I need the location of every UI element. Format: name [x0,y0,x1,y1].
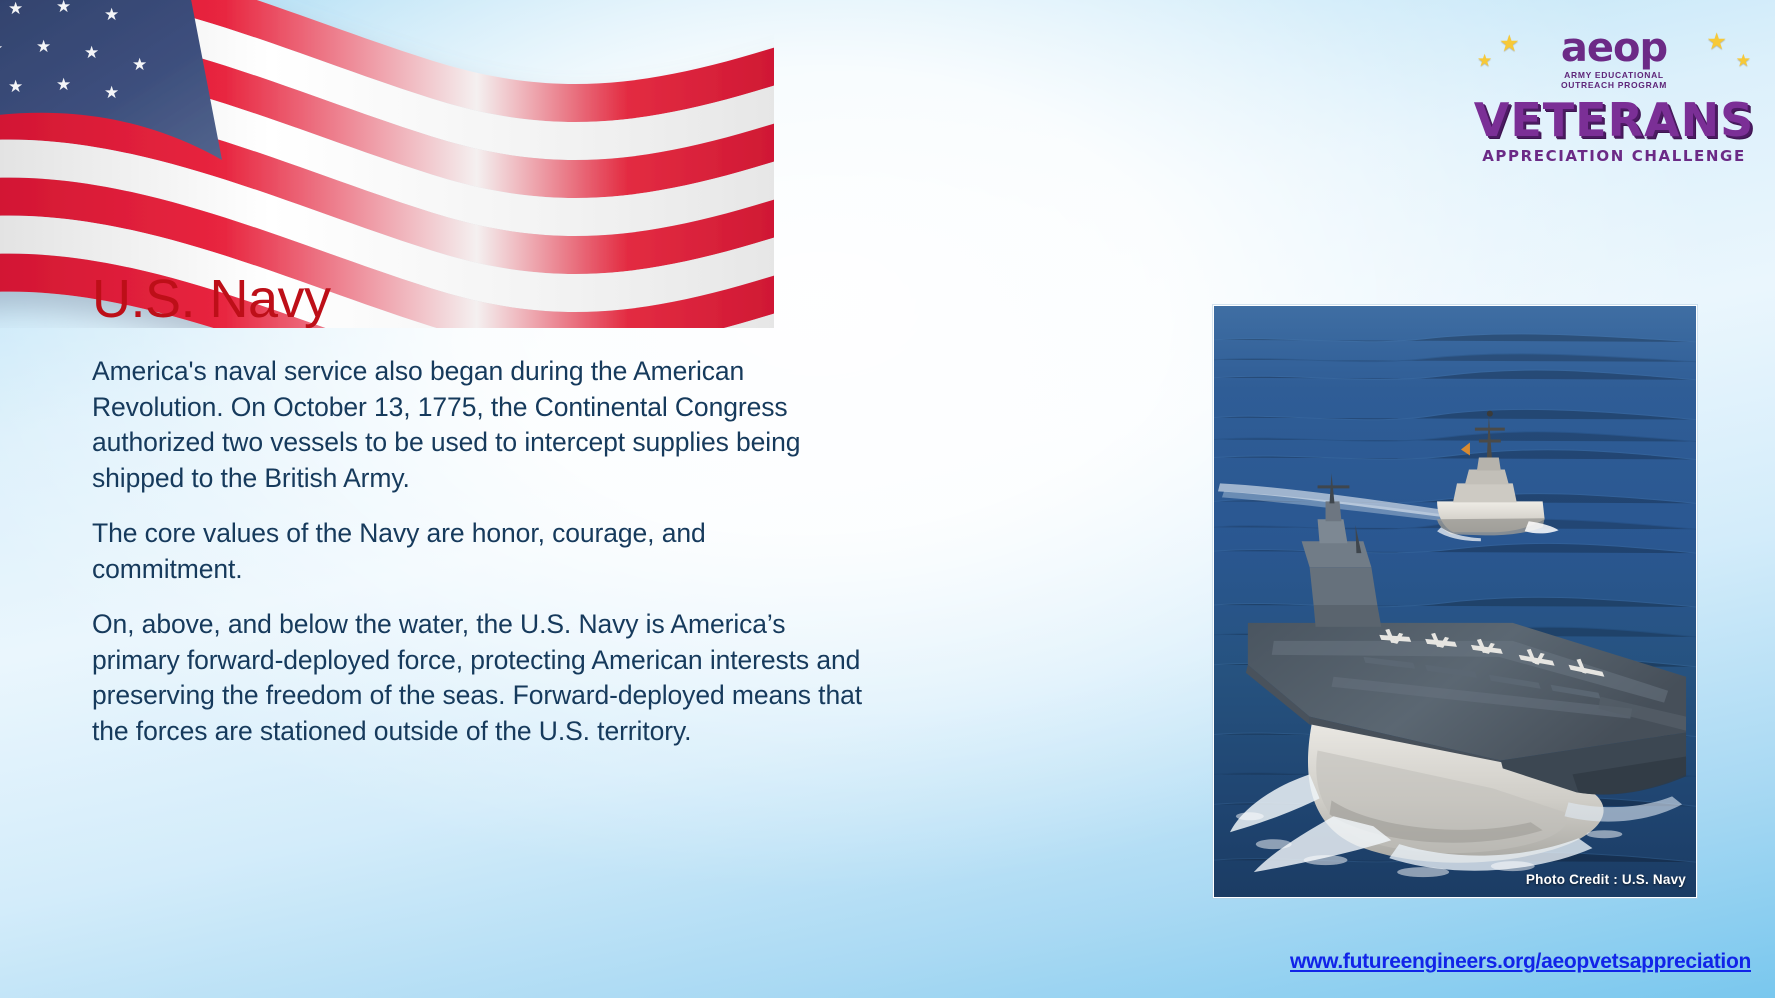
star-icon-left-outer: ★ [1477,52,1492,69]
svg-text:★: ★ [8,77,23,97]
svg-text:★: ★ [36,37,51,57]
svg-text:★: ★ [56,75,71,95]
svg-text:★: ★ [104,5,119,25]
svg-text:★: ★ [104,83,119,103]
body-paragraph-1: America's naval service also began durin… [92,354,862,496]
logo-subheadline-appreciation-challenge: APPRECIATION CHALLENGE [1471,147,1757,165]
content-column: U.S. Navy America's naval service also b… [92,268,872,749]
navy-photo: Photo Credit : U.S. Navy [1213,305,1697,898]
star-icon-right-inner: ★ [1706,30,1727,53]
logo-headline-veterans: VETERANS [1471,96,1757,144]
aeop-veterans-challenge-logo: ★ ★ ★ ★ aeop ARMY EDUCATIONAL OUTREACH P… [1471,24,1757,172]
star-icon-left-inner: ★ [1499,32,1520,55]
photo-credit-label: Photo Credit : U.S. Navy [1526,872,1686,887]
page-title: U.S. Navy [92,268,872,330]
aeop-subtitle-line1: ARMY EDUCATIONAL [1564,70,1664,80]
logo-brand-row: ★ ★ ★ ★ aeop ARMY EDUCATIONAL OUTREACH P… [1471,24,1757,94]
star-icon-right-outer: ★ [1736,52,1751,69]
svg-text:★: ★ [0,39,3,59]
slide-canvas: ★ ★ ★ ★ ★ ★ ★ ★ ★ ★ ★ ★ ★ ★ ★ ★ ★ [0,0,1775,998]
body-paragraph-2: The core values of the Navy are honor, c… [92,516,862,587]
svg-text:★: ★ [132,55,147,75]
svg-text:★: ★ [8,0,23,19]
body-paragraph-3: On, above, and below the water, the U.S.… [92,607,862,749]
aeop-subtitle-line2: OUTREACH PROGRAM [1561,80,1667,90]
footer-url-link[interactable]: www.futureengineers.org/aeopvetsapprecia… [1290,950,1751,974]
svg-text:★: ★ [56,0,71,17]
aeop-wordmark: aeop [1561,26,1667,70]
svg-text:★: ★ [84,43,99,63]
